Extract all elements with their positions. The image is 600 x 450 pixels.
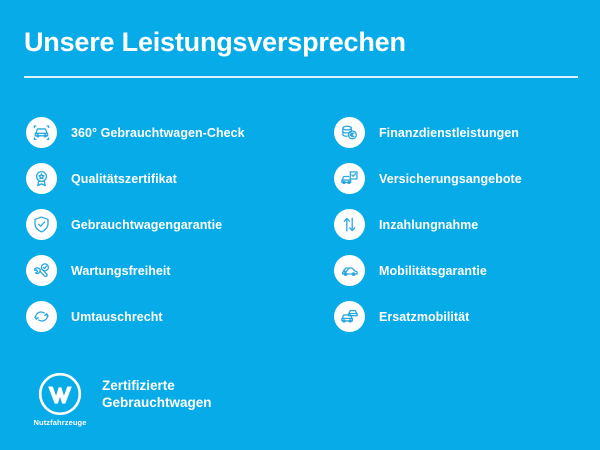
footer-tagline: Zertifizierte Gebrauchtwagen	[102, 377, 212, 411]
promise-item-replacement-mobility: Ersatzmobilität	[334, 301, 590, 332]
promise-label: Gebrauchtwagengarantie	[71, 218, 222, 232]
volkswagen-logo: Nutzfahrzeuge	[32, 372, 88, 427]
promise-item-quality-certificate: Qualitätszertifikat	[26, 163, 316, 194]
footer-tagline-line1: Zertifizierte	[102, 377, 212, 394]
promises-column-right: Finanzdienstleistungen Versicherungsange…	[334, 117, 590, 347]
car-tow-check-icon	[334, 255, 365, 286]
coins-euro-icon	[334, 117, 365, 148]
promise-label: Versicherungsangebote	[379, 172, 522, 186]
shield-check-icon	[26, 209, 57, 240]
promise-label: Ersatzmobilität	[379, 310, 469, 324]
footer-tagline-line2: Gebrauchtwagen	[102, 394, 212, 411]
promise-item-insurance-offers: Versicherungsangebote	[334, 163, 590, 194]
promise-label: Inzahlungnahme	[379, 218, 478, 232]
car-scan-360-icon	[26, 117, 57, 148]
promise-item-financial-services: Finanzdienstleistungen	[334, 117, 590, 148]
promise-label: Umtauschrecht	[71, 310, 163, 324]
promise-item-exchange-right: Umtauschrecht	[26, 301, 316, 332]
promise-label: Wartungsfreiheit	[71, 264, 171, 278]
page-title: Unsere Leistungsversprechen	[24, 26, 578, 58]
poster-footer: Nutzfahrzeuge Zertifizierte Gebrauchtwag…	[32, 372, 212, 427]
poster-header: Unsere Leistungsversprechen	[24, 26, 578, 58]
promise-label: Qualitätszertifikat	[71, 172, 177, 186]
promise-item-maintenance-free: Wartungsfreiheit	[26, 255, 316, 286]
promise-label: Mobilitätsgarantie	[379, 264, 487, 278]
promise-label: Finanzdienstleistungen	[379, 126, 519, 140]
title-divider	[24, 76, 578, 78]
promises-poster: Unsere Leistungsversprechen 360° Gebrauc…	[0, 0, 600, 450]
promise-item-warranty: Gebrauchtwagengarantie	[26, 209, 316, 240]
wrench-check-icon	[26, 255, 57, 286]
two-cars-icon	[334, 301, 365, 332]
exchange-arrows-icon	[26, 301, 57, 332]
up-down-arrows-icon	[334, 209, 365, 240]
logo-subtitle: Nutzfahrzeuge	[34, 418, 87, 427]
promise-item-trade-in: Inzahlungnahme	[334, 209, 590, 240]
promise-item-mobility-guarantee: Mobilitätsgarantie	[334, 255, 590, 286]
promises-column-left: 360° Gebrauchtwagen-Check Qualitätszerti…	[26, 117, 316, 347]
quality-rosette-icon	[26, 163, 57, 194]
car-document-icon	[334, 163, 365, 194]
promise-item-360-check: 360° Gebrauchtwagen-Check	[26, 117, 316, 148]
promise-label: 360° Gebrauchtwagen-Check	[71, 126, 245, 140]
vw-roundel-icon	[38, 372, 82, 416]
